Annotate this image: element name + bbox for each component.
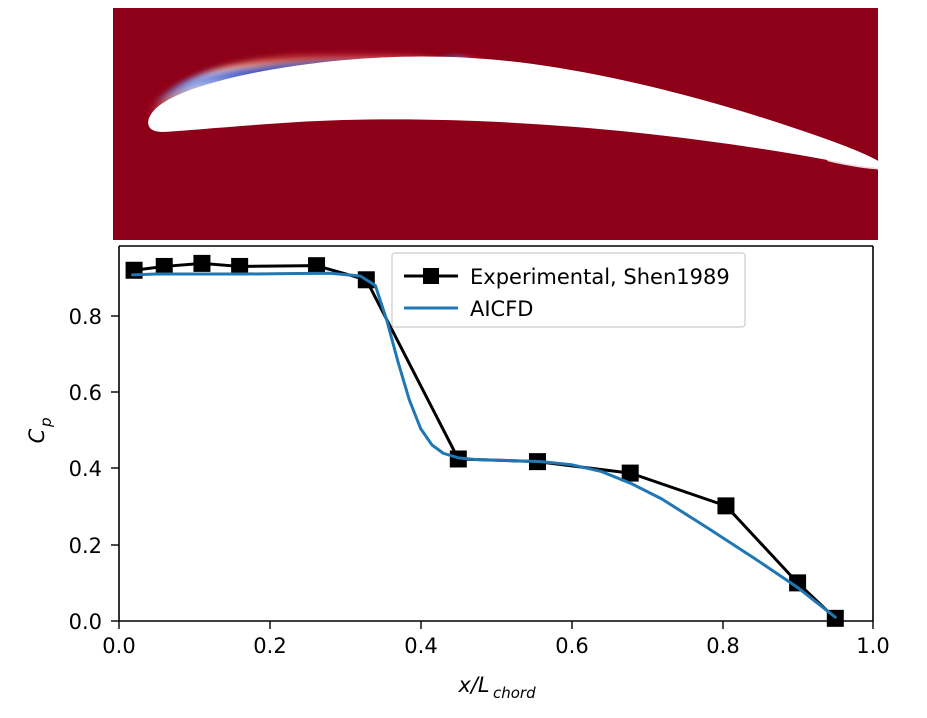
- y-tick-label-4: 0.8: [69, 305, 102, 329]
- data-point-marker: [717, 497, 734, 514]
- cfd-contour-svg: [113, 8, 878, 243]
- x-axis-title-main: x/L: [457, 673, 489, 697]
- x-tick-label-2: 0.4: [404, 634, 437, 658]
- x-tick-label-0: 0.0: [102, 634, 135, 658]
- data-point-marker: [622, 465, 639, 482]
- data-point-marker: [231, 258, 248, 275]
- x-tick-label-5: 1.0: [856, 634, 889, 658]
- data-point-marker: [308, 257, 325, 274]
- y-axis-title-sub: p: [37, 417, 55, 428]
- x-tick-label-1: 0.2: [253, 634, 286, 658]
- data-point-marker: [193, 255, 210, 272]
- legend-label-aicfd: AICFD: [470, 297, 533, 321]
- legend[interactable]: Experimental, Shen1989 AICFD: [392, 253, 745, 327]
- y-tick-label-2: 0.4: [69, 457, 102, 481]
- legend-label-experimental: Experimental, Shen1989: [470, 265, 730, 289]
- y-tick-label-1: 0.2: [69, 534, 102, 558]
- y-tick-label-0: 0.0: [69, 610, 102, 634]
- cp-plot-panel: 0.0 0.2 0.4 0.6 0.8 1.0 0.0 0.2 0.4 0.6 …: [0, 240, 927, 718]
- cfd-contour-panel: [113, 8, 878, 243]
- x-axis-title-sub: chord: [493, 684, 536, 702]
- x-tick-label-4: 0.8: [706, 634, 739, 658]
- data-point-marker: [156, 258, 173, 275]
- y-tick-label-3: 0.6: [69, 381, 102, 405]
- legend-marker-square-icon: [423, 268, 439, 284]
- x-tick-label-3: 0.6: [555, 634, 588, 658]
- cp-plot-svg: 0.0 0.2 0.4 0.6 0.8 1.0 0.0 0.2 0.4 0.6 …: [0, 240, 927, 718]
- y-axis-title-main: C: [25, 428, 49, 443]
